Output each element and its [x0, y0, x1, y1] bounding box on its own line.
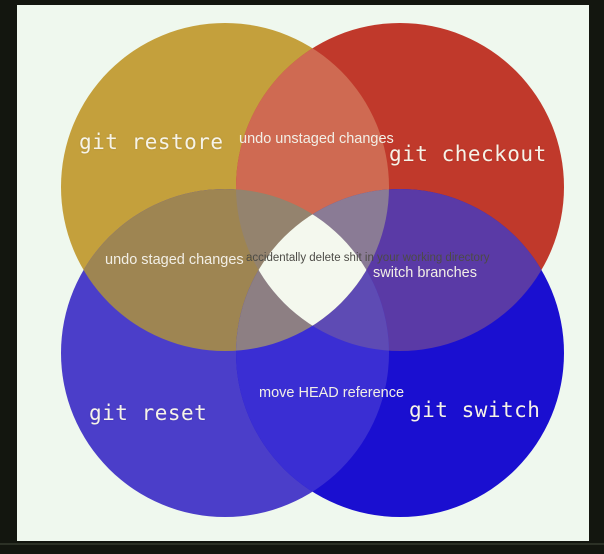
letterbox-left — [0, 0, 17, 554]
video-frame: git restore git checkout git reset git s… — [0, 0, 604, 554]
letterbox-bottom-highlight — [0, 543, 604, 545]
venn-svg — [17, 5, 589, 541]
letterbox-top — [0, 0, 604, 5]
letterbox-right — [589, 0, 604, 554]
slide-canvas: git restore git checkout git reset git s… — [17, 5, 589, 541]
venn-diagram — [17, 5, 589, 541]
